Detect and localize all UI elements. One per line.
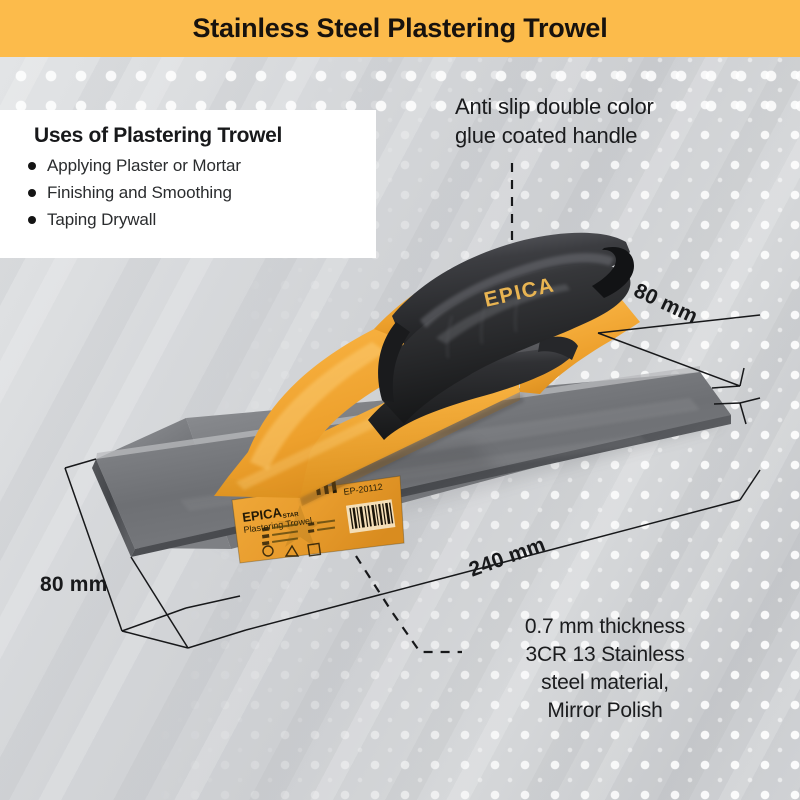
list-item-label: Applying Plaster or Mortar: [47, 157, 241, 174]
uses-heading: Uses of Plastering Trowel: [28, 124, 360, 148]
callout-material-line4: Mirror Polish: [440, 697, 770, 725]
list-item: Taping Drywall: [28, 211, 360, 228]
product-infographic: EPICA STAR Plastering Trowel EP-20112: [0, 0, 800, 800]
uses-list: Applying Plaster or Mortar Finishing and…: [28, 157, 360, 228]
bullet-icon: [28, 189, 36, 197]
list-item: Finishing and Smoothing: [28, 184, 360, 201]
dimension-line-left-80mm: [65, 459, 240, 631]
dimension-line-right-80mm: [598, 315, 760, 424]
list-item: Applying Plaster or Mortar: [28, 157, 360, 174]
header-banner: Stainless Steel Plastering Trowel: [0, 0, 800, 57]
callout-handle-line1: Anti slip double color: [455, 93, 755, 122]
callout-material: 0.7 mm thickness 3CR 13 Stainless steel …: [440, 613, 770, 725]
page-title: Stainless Steel Plastering Trowel: [192, 13, 607, 44]
list-item-label: Taping Drywall: [47, 211, 156, 228]
bullet-icon: [28, 216, 36, 224]
bullet-icon: [28, 162, 36, 170]
callout-material-line3: steel material,: [440, 669, 770, 697]
dimension-label-width-left: 80 mm: [40, 573, 108, 597]
callout-handle: Anti slip double color glue coated handl…: [455, 93, 755, 150]
list-item-label: Finishing and Smoothing: [47, 184, 232, 201]
uses-info-box: Uses of Plastering Trowel Applying Plast…: [0, 110, 376, 258]
callout-material-line2: 3CR 13 Stainless: [440, 641, 770, 669]
callout-handle-line2: glue coated handle: [455, 122, 755, 151]
callout-material-line1: 0.7 mm thickness: [440, 613, 770, 641]
